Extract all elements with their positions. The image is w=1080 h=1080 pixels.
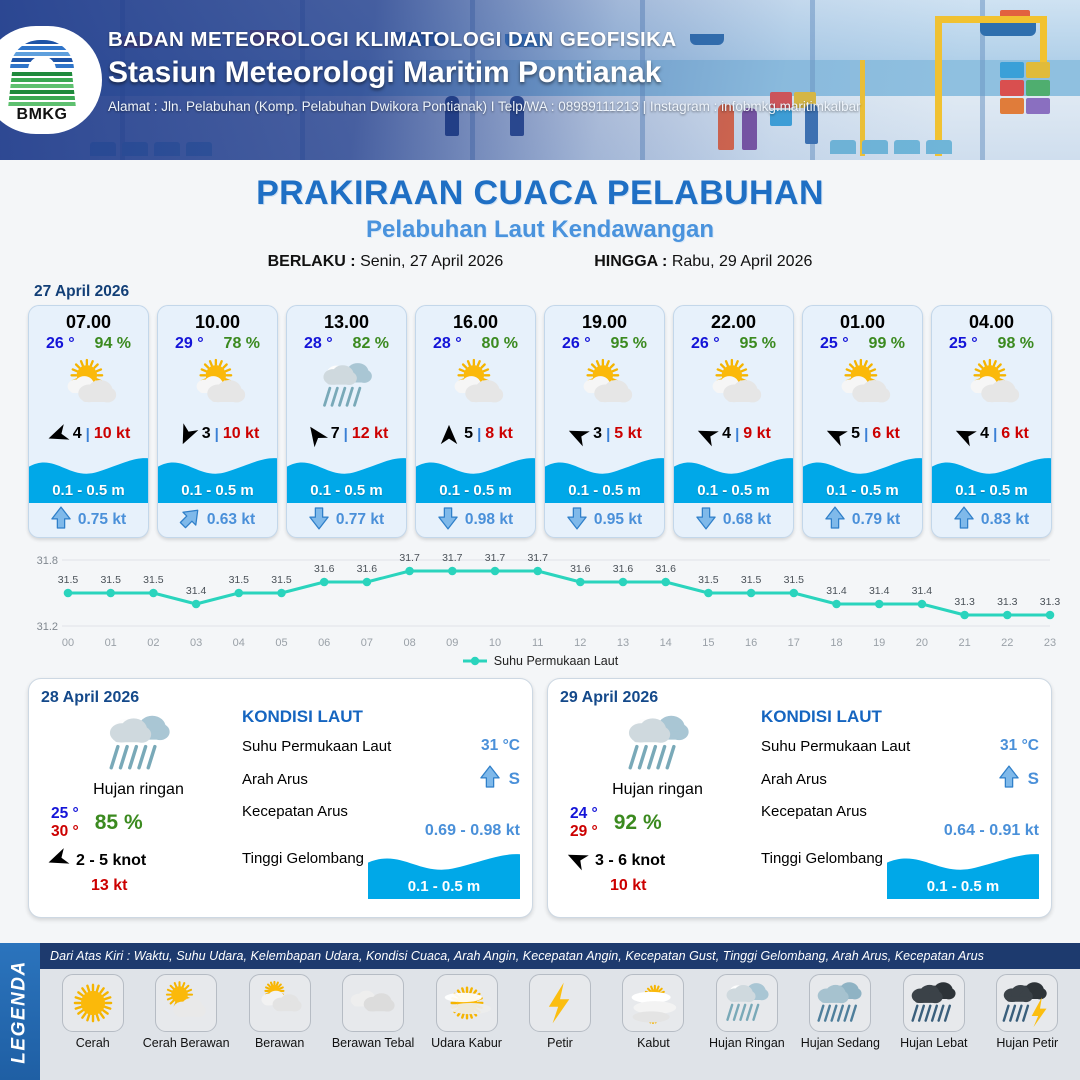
svg-text:31.5: 31.5 bbox=[143, 574, 164, 586]
svg-text:23: 23 bbox=[1044, 637, 1056, 649]
card-gust: 8 kt bbox=[485, 425, 513, 443]
day-wind-speed: 2 - 5 knot bbox=[76, 852, 146, 870]
card-current-row: 0.79 kt bbox=[803, 503, 922, 537]
card-time: 22.00 bbox=[674, 312, 793, 333]
current-direction-icon bbox=[999, 765, 1019, 793]
card-temperature: 26 ° bbox=[562, 335, 591, 353]
light-rain-icon bbox=[560, 705, 755, 783]
fog-icon bbox=[622, 974, 684, 1032]
validity-line: BERLAKU : Senin, 27 April 2026 HINGGA : … bbox=[0, 253, 1080, 271]
current-direction-label: Arah Arus bbox=[761, 771, 827, 788]
day-condition: Hujan ringan bbox=[560, 781, 755, 799]
svg-text:31.4: 31.4 bbox=[869, 585, 890, 597]
page-header: BMKG BADAN METEOROLOGI KLIMATOLOGI DAN G… bbox=[0, 0, 1080, 160]
svg-text:31.4: 31.4 bbox=[826, 585, 847, 597]
card-wave-height: 0.1 - 0.5 m bbox=[803, 482, 922, 499]
daily-forecast-panel: 29 April 2026 Hujan ringan 24 ° 29 ° 92 … bbox=[547, 678, 1052, 918]
card-current-speed: 0.77 kt bbox=[336, 511, 384, 529]
svg-text:31.7: 31.7 bbox=[442, 552, 463, 564]
card-wave-height: 0.1 - 0.5 m bbox=[674, 482, 793, 499]
sst-row: Suhu Permukaan Laut 31 °C bbox=[761, 737, 1039, 755]
card-current-row: 0.98 kt bbox=[416, 503, 535, 537]
card-current-speed: 0.79 kt bbox=[852, 511, 900, 529]
card-time: 19.00 bbox=[545, 312, 664, 333]
sst-chart-svg: 31.831.231.50031.50131.50231.40331.50431… bbox=[16, 548, 1064, 656]
card-temp-hum: 28 ° 80 % bbox=[416, 335, 535, 353]
svg-text:01: 01 bbox=[105, 637, 117, 649]
legend-item: Kabut bbox=[607, 974, 699, 1050]
card-gust: 6 kt bbox=[1001, 425, 1029, 443]
legend-note: Dari Atas Kiri : Waktu, Suhu Udara, Kele… bbox=[40, 943, 1080, 969]
current-direction-icon bbox=[180, 506, 200, 535]
card-wind-row: 4 | 9 kt bbox=[674, 419, 793, 449]
wind-direction-icon bbox=[567, 424, 589, 444]
cloud-sun-small-icon bbox=[249, 974, 311, 1032]
day-wind-row: 3 - 6 knot bbox=[560, 848, 755, 875]
svg-text:31.6: 31.6 bbox=[357, 563, 378, 575]
current-direction-icon bbox=[51, 506, 71, 535]
sst-label: Suhu Permukaan Laut bbox=[242, 738, 391, 755]
current-direction-row: Arah Arus S bbox=[761, 765, 1039, 793]
svg-text:10: 10 bbox=[489, 637, 501, 649]
svg-text:12: 12 bbox=[574, 637, 586, 649]
partly-cloudy-icon bbox=[158, 355, 277, 417]
contact-line: Alamat : Jln. Pelabuhan (Komp. Pelabuhan… bbox=[108, 99, 861, 114]
forecast-date-label: 27 April 2026 bbox=[34, 283, 1080, 301]
clouds-icon bbox=[342, 974, 404, 1032]
forecast-card: 22.00 26 ° 95 % 4 | 9 kt 0.1 - 0.5 m 0.6 bbox=[673, 305, 794, 538]
card-humidity: 95 % bbox=[740, 335, 776, 353]
card-wind-separator: | bbox=[864, 426, 868, 443]
card-humidity: 82 % bbox=[353, 335, 389, 353]
card-wind-separator: | bbox=[344, 426, 348, 443]
card-time: 04.00 bbox=[932, 312, 1051, 333]
svg-text:09: 09 bbox=[446, 637, 458, 649]
card-gust: 10 kt bbox=[223, 425, 259, 443]
wave-height-value: 0.1 - 0.5 m bbox=[887, 878, 1039, 895]
svg-text:21: 21 bbox=[958, 637, 970, 649]
legend-item: Berawan bbox=[234, 974, 326, 1050]
logo-field-icon bbox=[8, 72, 76, 108]
svg-text:22: 22 bbox=[1001, 637, 1013, 649]
day-temp-min: 25 ° bbox=[51, 805, 79, 823]
card-temperature: 29 ° bbox=[175, 335, 204, 353]
wind-direction-icon bbox=[954, 424, 976, 444]
svg-text:04: 04 bbox=[233, 637, 245, 649]
card-current-row: 0.77 kt bbox=[287, 503, 406, 537]
svg-text:08: 08 bbox=[403, 637, 415, 649]
day-sea-conditions: KONDISI LAUT Suhu Permukaan Laut 31 °C A… bbox=[236, 689, 520, 907]
card-wind-separator: | bbox=[606, 426, 610, 443]
card-wind-speed: 4 bbox=[73, 425, 82, 443]
card-wave-block: 0.1 - 0.5 m bbox=[158, 451, 277, 503]
svg-text:31.5: 31.5 bbox=[229, 574, 250, 586]
svg-text:16: 16 bbox=[745, 637, 757, 649]
card-humidity: 78 % bbox=[224, 335, 260, 353]
legend-tab: LEGENDA bbox=[0, 943, 40, 1080]
day-gust: 10 kt bbox=[560, 877, 755, 895]
forecast-card: 07.00 26 ° 94 % 4 | 10 kt 0.1 - 0.5 m 0. bbox=[28, 305, 149, 538]
card-wind-separator: | bbox=[735, 426, 739, 443]
day-condition: Hujan ringan bbox=[41, 781, 236, 799]
card-wave-block: 0.1 - 0.5 m bbox=[932, 451, 1051, 503]
card-wind-speed: 3 bbox=[202, 425, 211, 443]
card-temperature: 25 ° bbox=[820, 335, 849, 353]
svg-text:31.8: 31.8 bbox=[37, 555, 58, 567]
wind-direction-icon bbox=[438, 424, 460, 444]
legend-item: Hujan Petir bbox=[981, 974, 1073, 1050]
svg-text:17: 17 bbox=[788, 637, 800, 649]
chart-legend-label: Suhu Permukaan Laut bbox=[494, 654, 618, 668]
forecast-card: 04.00 25 ° 98 % 4 | 6 kt 0.1 - 0.5 m 0.8 bbox=[931, 305, 1052, 538]
card-wave-height: 0.1 - 0.5 m bbox=[287, 482, 406, 499]
svg-text:31.3: 31.3 bbox=[954, 596, 975, 608]
legend-item: Udara Kabur bbox=[421, 974, 513, 1050]
wind-direction-icon bbox=[47, 424, 69, 444]
card-temp-hum: 25 ° 99 % bbox=[803, 335, 922, 353]
light-rain-icon bbox=[287, 355, 406, 417]
day-temps: 24 ° 29 ° 92 % bbox=[560, 805, 755, 841]
chart-legend-marker bbox=[462, 655, 488, 667]
card-wave-block: 0.1 - 0.5 m bbox=[287, 451, 406, 503]
legend-item: Petir bbox=[514, 974, 606, 1050]
header-text-block: BADAN METEOROLOGI KLIMATOLOGI DAN GEOFIS… bbox=[108, 28, 861, 114]
svg-text:11: 11 bbox=[532, 637, 543, 649]
legend-item-label: Hujan Sedang bbox=[801, 1036, 880, 1050]
agency-name: BADAN METEOROLOGI KLIMATOLOGI DAN GEOFIS… bbox=[108, 28, 861, 52]
day-summary: 29 April 2026 Hujan ringan 24 ° 29 ° 92 … bbox=[560, 689, 755, 907]
day-temp-range: 24 ° 29 ° bbox=[570, 805, 598, 841]
page-title: PRAKIRAAN CUACA PELABUHAN bbox=[0, 174, 1080, 213]
page-subtitle: Pelabuhan Laut Kendawangan bbox=[0, 216, 1080, 244]
day-temps: 25 ° 30 ° 85 % bbox=[41, 805, 236, 841]
card-wave-block: 0.1 - 0.5 m bbox=[545, 451, 664, 503]
day-humidity: 92 % bbox=[614, 811, 662, 835]
svg-text:14: 14 bbox=[660, 637, 672, 649]
legend-item: Hujan Lebat bbox=[888, 974, 980, 1050]
card-wave-height: 0.1 - 0.5 m bbox=[932, 482, 1051, 499]
sst-chart: 31.831.231.50031.50131.50231.40331.50431… bbox=[16, 548, 1064, 656]
card-wave-height: 0.1 - 0.5 m bbox=[29, 482, 148, 499]
card-temp-hum: 26 ° 95 % bbox=[674, 335, 793, 353]
svg-text:31.4: 31.4 bbox=[912, 585, 933, 597]
card-wind-row: 4 | 10 kt bbox=[29, 419, 148, 449]
svg-text:20: 20 bbox=[916, 637, 928, 649]
card-temp-hum: 28 ° 82 % bbox=[287, 335, 406, 353]
day-wind-speed: 3 - 6 knot bbox=[595, 852, 665, 870]
card-wind-separator: | bbox=[477, 426, 481, 443]
legend-item-label: Berawan bbox=[255, 1036, 304, 1050]
card-wind-separator: | bbox=[215, 426, 219, 443]
svg-text:31.7: 31.7 bbox=[485, 552, 506, 564]
current-speed-label: Kecepatan Arus bbox=[242, 803, 348, 820]
wave-height-graphic: 0.1 - 0.5 m bbox=[368, 847, 520, 901]
legend-item: Hujan Sedang bbox=[794, 974, 886, 1050]
legend-section: LEGENDA Dari Atas Kiri : Waktu, Suhu Uda… bbox=[0, 943, 1080, 1080]
card-gust: 6 kt bbox=[872, 425, 900, 443]
legend-item-label: Cerah Berawan bbox=[143, 1036, 230, 1050]
logo-arc-icon bbox=[10, 40, 74, 70]
legend-item-label: Hujan Petir bbox=[996, 1036, 1058, 1050]
card-wind-row: 4 | 6 kt bbox=[932, 419, 1051, 449]
card-current-row: 0.63 kt bbox=[158, 503, 277, 537]
hourly-forecast-row: 07.00 26 ° 94 % 4 | 10 kt 0.1 - 0.5 m 0. bbox=[0, 305, 1080, 538]
card-humidity: 80 % bbox=[482, 335, 518, 353]
card-temp-hum: 26 ° 95 % bbox=[545, 335, 664, 353]
card-humidity: 94 % bbox=[95, 335, 131, 353]
daily-forecast-panel: 28 April 2026 Hujan ringan 25 ° 30 ° 85 … bbox=[28, 678, 533, 918]
thunderstorm-icon bbox=[996, 974, 1058, 1032]
current-direction-row: Arah Arus S bbox=[242, 765, 520, 793]
svg-text:13: 13 bbox=[617, 637, 629, 649]
wind-direction-icon bbox=[825, 424, 847, 444]
valid-until-label: HINGGA : bbox=[594, 253, 667, 270]
card-wind-speed: 3 bbox=[593, 425, 602, 443]
card-wind-speed: 7 bbox=[331, 425, 340, 443]
current-direction-icon bbox=[438, 506, 458, 535]
legend-item-label: Petir bbox=[547, 1036, 573, 1050]
forecast-card: 19.00 26 ° 95 % 3 | 5 kt 0.1 - 0.5 m 0.9 bbox=[544, 305, 665, 538]
svg-text:31.6: 31.6 bbox=[655, 563, 676, 575]
card-current-speed: 0.83 kt bbox=[981, 511, 1029, 529]
chart-legend: Suhu Permukaan Laut bbox=[0, 654, 1080, 668]
card-time: 10.00 bbox=[158, 312, 277, 333]
svg-text:18: 18 bbox=[830, 637, 842, 649]
sea-conditions-title: KONDISI LAUT bbox=[242, 707, 520, 727]
legend-item-list: Cerah Cerah Berawan Berawan Berawan Teba… bbox=[40, 969, 1080, 1080]
card-wave-block: 0.1 - 0.5 m bbox=[416, 451, 535, 503]
partly-cloudy-icon bbox=[29, 355, 148, 417]
card-wind-row: 3 | 10 kt bbox=[158, 419, 277, 449]
svg-text:31.3: 31.3 bbox=[1040, 596, 1061, 608]
svg-text:31.7: 31.7 bbox=[527, 552, 548, 564]
current-speed-row: Kecepatan Arus bbox=[761, 803, 1039, 820]
light-rain-icon bbox=[41, 705, 236, 783]
card-current-speed: 0.68 kt bbox=[723, 511, 771, 529]
card-time: 07.00 bbox=[29, 312, 148, 333]
svg-text:06: 06 bbox=[318, 637, 330, 649]
partly-cloudy-icon bbox=[803, 355, 922, 417]
card-wind-row: 3 | 5 kt bbox=[545, 419, 664, 449]
moderate-rain-icon bbox=[809, 974, 871, 1032]
current-speed-label: Kecepatan Arus bbox=[761, 803, 867, 820]
svg-text:31.4: 31.4 bbox=[186, 585, 207, 597]
day-humidity: 85 % bbox=[95, 811, 143, 835]
svg-text:31.5: 31.5 bbox=[58, 574, 79, 586]
svg-text:31.2: 31.2 bbox=[37, 621, 58, 633]
light-rain-icon bbox=[716, 974, 778, 1032]
svg-text:31.3: 31.3 bbox=[997, 596, 1018, 608]
current-direction-icon bbox=[567, 506, 587, 535]
day-temp-max: 30 ° bbox=[51, 823, 79, 841]
svg-text:02: 02 bbox=[147, 637, 159, 649]
card-wind-row: 5 | 6 kt bbox=[803, 419, 922, 449]
day-temp-min: 24 ° bbox=[570, 805, 598, 823]
forecast-card: 13.00 28 ° 82 % 7 | 12 kt 0.1 - 0.5 m 0. bbox=[286, 305, 407, 538]
svg-text:31.5: 31.5 bbox=[784, 574, 805, 586]
legend-item-label: Cerah bbox=[76, 1036, 110, 1050]
day-sea-conditions: KONDISI LAUT Suhu Permukaan Laut 31 °C A… bbox=[755, 689, 1039, 907]
wind-direction-icon bbox=[47, 848, 69, 875]
wind-direction-icon bbox=[305, 424, 327, 444]
svg-text:15: 15 bbox=[702, 637, 714, 649]
forecast-card: 16.00 28 ° 80 % 5 | 8 kt 0.1 - 0.5 m 0.9 bbox=[415, 305, 536, 538]
wind-direction-icon bbox=[176, 424, 198, 444]
card-current-row: 0.68 kt bbox=[674, 503, 793, 537]
current-direction-value: S bbox=[509, 769, 520, 789]
current-direction-value-group: S bbox=[999, 765, 1039, 793]
partly-cloudy-icon bbox=[932, 355, 1051, 417]
card-gust: 9 kt bbox=[743, 425, 771, 443]
card-temperature: 25 ° bbox=[949, 335, 978, 353]
day-temp-max: 29 ° bbox=[570, 823, 598, 841]
wave-height-value: 0.1 - 0.5 m bbox=[368, 878, 520, 895]
sst-value: 31 °C bbox=[1000, 737, 1039, 755]
card-humidity: 98 % bbox=[998, 335, 1034, 353]
card-current-speed: 0.95 kt bbox=[594, 511, 642, 529]
wind-direction-icon bbox=[696, 424, 718, 444]
card-wind-speed: 5 bbox=[464, 425, 473, 443]
card-temperature: 28 ° bbox=[304, 335, 333, 353]
legend-item: Berawan Tebal bbox=[327, 974, 419, 1050]
legend-item-label: Kabut bbox=[637, 1036, 670, 1050]
legend-item: Cerah bbox=[47, 974, 139, 1050]
daily-forecast-row: 28 April 2026 Hujan ringan 25 ° 30 ° 85 … bbox=[0, 668, 1080, 918]
card-humidity: 95 % bbox=[611, 335, 647, 353]
valid-from-value: Senin, 27 April 2026 bbox=[360, 253, 503, 270]
card-wind-row: 7 | 12 kt bbox=[287, 419, 406, 449]
partly-cloudy-icon bbox=[674, 355, 793, 417]
current-speed-row: Kecepatan Arus bbox=[242, 803, 520, 820]
current-direction-icon bbox=[480, 765, 500, 793]
valid-from-label: BERLAKU : bbox=[268, 253, 356, 270]
card-wind-row: 5 | 8 kt bbox=[416, 419, 535, 449]
day-summary: 28 April 2026 Hujan ringan 25 ° 30 ° 85 … bbox=[41, 689, 236, 907]
svg-text:05: 05 bbox=[275, 637, 287, 649]
svg-text:31.7: 31.7 bbox=[399, 552, 420, 564]
wave-height-label: Tinggi Gelombang bbox=[242, 850, 364, 867]
svg-text:31.5: 31.5 bbox=[698, 574, 719, 586]
card-wind-speed: 5 bbox=[851, 425, 860, 443]
card-gust: 5 kt bbox=[614, 425, 642, 443]
card-wind-separator: | bbox=[993, 426, 997, 443]
haze-icon bbox=[436, 974, 498, 1032]
svg-text:19: 19 bbox=[873, 637, 885, 649]
card-time: 01.00 bbox=[803, 312, 922, 333]
legend-item: Cerah Berawan bbox=[140, 974, 232, 1050]
svg-text:31.6: 31.6 bbox=[314, 563, 335, 575]
card-current-speed: 0.63 kt bbox=[207, 511, 255, 529]
card-wave-block: 0.1 - 0.5 m bbox=[29, 451, 148, 503]
card-humidity: 99 % bbox=[869, 335, 905, 353]
card-current-row: 0.75 kt bbox=[29, 503, 148, 537]
current-direction-value-group: S bbox=[480, 765, 520, 793]
legend-tab-label: LEGENDA bbox=[9, 960, 31, 1063]
svg-text:00: 00 bbox=[62, 637, 74, 649]
sst-value: 31 °C bbox=[481, 737, 520, 755]
current-direction-icon bbox=[309, 506, 329, 535]
station-name: Stasiun Meteorologi Maritim Pontianak bbox=[108, 56, 861, 90]
wind-direction-icon bbox=[566, 848, 588, 875]
lightning-icon bbox=[529, 974, 591, 1032]
card-current-speed: 0.98 kt bbox=[465, 511, 513, 529]
card-gust: 12 kt bbox=[352, 425, 388, 443]
legend-item-label: Berawan Tebal bbox=[332, 1036, 414, 1050]
svg-text:31.5: 31.5 bbox=[741, 574, 762, 586]
card-current-row: 0.83 kt bbox=[932, 503, 1051, 537]
wave-height-graphic: 0.1 - 0.5 m bbox=[887, 847, 1039, 901]
card-time: 16.00 bbox=[416, 312, 535, 333]
sun-cloud-icon bbox=[155, 974, 217, 1032]
card-wave-block: 0.1 - 0.5 m bbox=[674, 451, 793, 503]
current-direction-icon bbox=[696, 506, 716, 535]
legend-item: Hujan Ringan bbox=[701, 974, 793, 1050]
day-temp-range: 25 ° 30 ° bbox=[51, 805, 79, 841]
card-time: 13.00 bbox=[287, 312, 406, 333]
sea-conditions-title: KONDISI LAUT bbox=[761, 707, 1039, 727]
legend-item-label: Hujan Ringan bbox=[709, 1036, 785, 1050]
card-temperature: 26 ° bbox=[691, 335, 720, 353]
svg-text:31.6: 31.6 bbox=[613, 563, 634, 575]
card-wave-height: 0.1 - 0.5 m bbox=[416, 482, 535, 499]
current-speed-value: 0.69 - 0.98 kt bbox=[242, 822, 520, 840]
legend-item-label: Hujan Lebat bbox=[900, 1036, 967, 1050]
card-current-speed: 0.75 kt bbox=[78, 511, 126, 529]
partly-cloudy-icon bbox=[545, 355, 664, 417]
legend-body: Dari Atas Kiri : Waktu, Suhu Udara, Kele… bbox=[40, 943, 1080, 1080]
card-temperature: 26 ° bbox=[46, 335, 75, 353]
svg-text:03: 03 bbox=[190, 637, 202, 649]
current-direction-icon bbox=[954, 506, 974, 535]
card-temp-hum: 26 ° 94 % bbox=[29, 335, 148, 353]
card-wave-block: 0.1 - 0.5 m bbox=[803, 451, 922, 503]
card-wind-separator: | bbox=[86, 426, 90, 443]
card-wind-speed: 4 bbox=[722, 425, 731, 443]
title-block: PRAKIRAAN CUACA PELABUHAN Pelabuhan Laut… bbox=[0, 160, 1080, 271]
card-temperature: 28 ° bbox=[433, 335, 462, 353]
forecast-card: 01.00 25 ° 99 % 5 | 6 kt 0.1 - 0.5 m 0.7 bbox=[802, 305, 923, 538]
day-wind-row: 2 - 5 knot bbox=[41, 848, 236, 875]
svg-text:31.6: 31.6 bbox=[570, 563, 591, 575]
legend-item-label: Udara Kabur bbox=[431, 1036, 502, 1050]
sst-row: Suhu Permukaan Laut 31 °C bbox=[242, 737, 520, 755]
svg-text:31.5: 31.5 bbox=[271, 574, 292, 586]
wave-height-label: Tinggi Gelombang bbox=[761, 850, 883, 867]
sst-label: Suhu Permukaan Laut bbox=[761, 738, 910, 755]
partly-cloudy-icon bbox=[416, 355, 535, 417]
card-temp-hum: 25 ° 98 % bbox=[932, 335, 1051, 353]
logo-label: BMKG bbox=[4, 106, 80, 124]
card-temp-hum: 29 ° 78 % bbox=[158, 335, 277, 353]
card-wave-height: 0.1 - 0.5 m bbox=[545, 482, 664, 499]
heavy-rain-icon bbox=[903, 974, 965, 1032]
card-wind-speed: 4 bbox=[980, 425, 989, 443]
current-speed-value: 0.64 - 0.91 kt bbox=[761, 822, 1039, 840]
card-wave-height: 0.1 - 0.5 m bbox=[158, 482, 277, 499]
current-direction-icon bbox=[825, 506, 845, 535]
svg-text:31.5: 31.5 bbox=[100, 574, 121, 586]
svg-text:07: 07 bbox=[361, 637, 373, 649]
current-direction-value: S bbox=[1028, 769, 1039, 789]
forecast-card: 10.00 29 ° 78 % 3 | 10 kt 0.1 - 0.5 m 0. bbox=[157, 305, 278, 538]
valid-until-value: Rabu, 29 April 2026 bbox=[672, 253, 813, 270]
card-gust: 10 kt bbox=[94, 425, 130, 443]
day-gust: 13 kt bbox=[41, 877, 236, 895]
current-direction-label: Arah Arus bbox=[242, 771, 308, 788]
sun-icon bbox=[62, 974, 124, 1032]
card-current-row: 0.95 kt bbox=[545, 503, 664, 537]
